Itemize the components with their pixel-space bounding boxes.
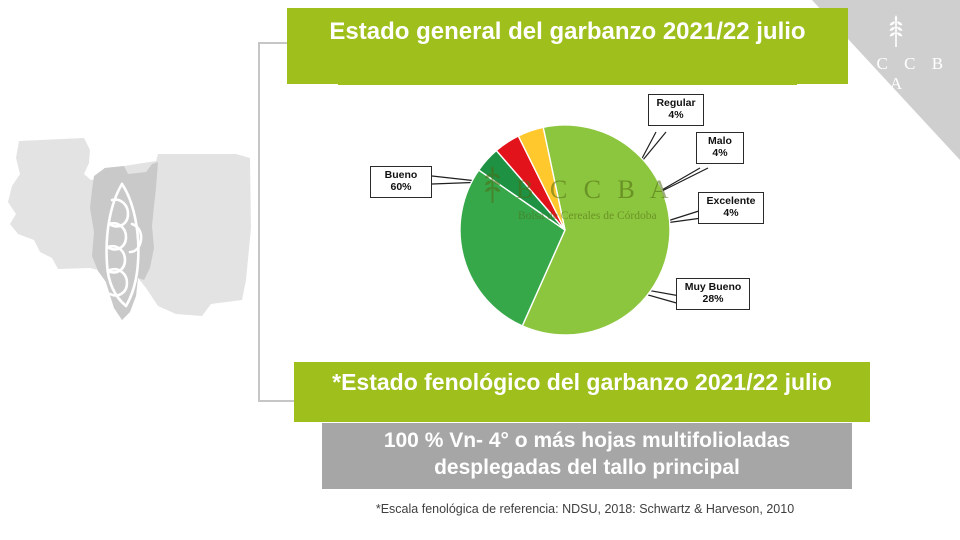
chart-watermark-letters: B C C B A — [516, 175, 674, 204]
callout-bueno-value: 60% — [376, 181, 426, 193]
callout-excelente-value: 4% — [704, 207, 758, 219]
title-banner-top-notch — [338, 76, 797, 85]
cordoba-map — [6, 128, 256, 343]
callout-muy-bueno-label: Muy Bueno — [685, 281, 742, 293]
slide-canvas: B C C B A Estado general del garbanzo 20… — [0, 0, 960, 540]
callout-regular-value: 4% — [654, 109, 698, 121]
callout-malo-label: Malo — [708, 135, 732, 147]
callout-bueno: Bueno 60% — [370, 166, 432, 198]
phenology-gray-banner: 100 % Vn- 4° o más hojas multifolioladas… — [322, 423, 852, 489]
callout-muy-bueno: Muy Bueno 28% — [676, 278, 750, 310]
callout-malo: Malo 4% — [696, 132, 744, 164]
callout-bueno-label: Bueno — [385, 169, 418, 181]
callout-malo-value: 4% — [702, 147, 738, 159]
title-banner-top: Estado general del garbanzo 2021/22 juli… — [287, 8, 848, 84]
pie-slices — [460, 125, 670, 335]
cordoba-map-svg — [6, 128, 256, 343]
callout-regular: Regular 4% — [648, 94, 704, 126]
pie-chart: B C C B A Bolsa de Cereales de Córdoba B… — [370, 88, 780, 340]
title-banner-bottom-notch — [294, 412, 870, 422]
bracket-connector — [258, 42, 304, 402]
chart-watermark-subtitle: Bolsa de Cereales de Córdoba — [518, 210, 657, 222]
callout-excelente-label: Excelente — [706, 195, 755, 207]
callout-excelente: Excelente 4% — [698, 192, 764, 224]
callout-muy-bueno-value: 28% — [682, 293, 744, 305]
callout-regular-label: Regular — [656, 97, 695, 109]
footnote-text: *Escala fenológica de referencia: NDSU, … — [290, 502, 880, 516]
